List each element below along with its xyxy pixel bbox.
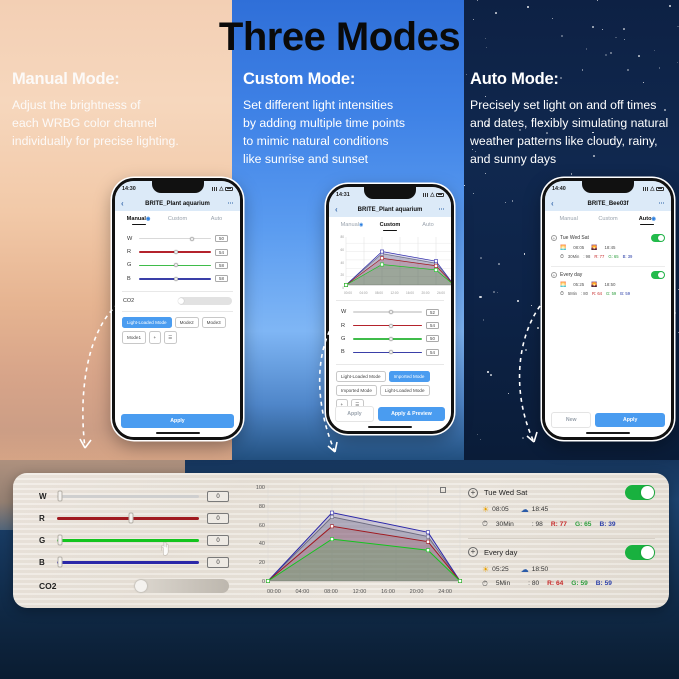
x-tick: 08:00 bbox=[375, 291, 383, 297]
panel-co2-row: CO2 bbox=[39, 579, 229, 593]
screen-content: Manual◉ Custom Auto W 50 R 54 G 58 B bbox=[115, 211, 240, 437]
clock-icon: ⏱ bbox=[482, 579, 488, 589]
footer-actions: Apply Apply & Preview bbox=[335, 406, 445, 422]
tab-custom[interactable]: Custom bbox=[158, 216, 197, 225]
more-horizontal-icon[interactable]: ⋯ bbox=[433, 206, 445, 213]
panel-schedules: + Tue Wed Sat ☀08:05 ☁18:45 ⏱ 30Min : 98… bbox=[460, 473, 669, 608]
schedule-toggle[interactable] bbox=[651, 271, 665, 279]
panel-schedule-r: R: 77 bbox=[551, 521, 567, 528]
signal-icon bbox=[643, 187, 649, 191]
panel-schedule-b: B: 59 bbox=[596, 580, 612, 587]
custom-mode-heading: Custom Mode: bbox=[243, 70, 458, 89]
slider-knob-w[interactable] bbox=[389, 310, 393, 314]
slider-label-g: G bbox=[127, 262, 135, 268]
sunset-icon: ☁ bbox=[521, 565, 529, 574]
tab-auto-label: Auto bbox=[422, 222, 434, 228]
tab-dot-icon: ◉ bbox=[146, 216, 150, 222]
schedule-b: B: 39 bbox=[623, 254, 633, 259]
panel-slider-track-w[interactable] bbox=[57, 495, 199, 497]
auto-mode-line-2: and dates, flexibly simulating natural bbox=[470, 114, 679, 132]
x-tick: 12:00 bbox=[391, 291, 399, 297]
slider-track-g[interactable] bbox=[139, 265, 211, 267]
slider-value-b[interactable]: 58 bbox=[215, 275, 228, 282]
x-tick: 08:00 bbox=[324, 589, 338, 598]
schedule-off-time: 18:45 bbox=[604, 245, 615, 250]
chart-fullscreen-icon[interactable] bbox=[440, 487, 446, 493]
slider-value-r[interactable]: 54 bbox=[426, 322, 439, 329]
wifi-icon: △ bbox=[650, 186, 654, 192]
x-tick: 00:00 bbox=[344, 291, 352, 297]
wifi-icon: △ bbox=[219, 186, 223, 192]
panel-schedule-list: + Tue Wed Sat ☀08:05 ☁18:45 ⏱ 30Min : 98… bbox=[468, 483, 655, 593]
panel-slider-value-r[interactable]: 0 bbox=[207, 513, 229, 524]
chart-x-axis: 00:00 04:00 08:00 12:00 16:00 20:00 24:0… bbox=[344, 291, 445, 297]
sunrise-icon: ☀ bbox=[482, 505, 489, 514]
clock-icon: ⏱ bbox=[482, 519, 488, 529]
new-button[interactable]: New bbox=[551, 412, 591, 428]
schedule-g: G: 65 bbox=[608, 254, 618, 259]
slider-knob-g[interactable] bbox=[389, 337, 393, 341]
sunset-icon: 🌄 bbox=[591, 282, 597, 288]
clock-icon: ⏱ bbox=[560, 291, 564, 297]
screen-content: Manual Custom Auto◉ + Tue Wed Sat 🌅 08:0… bbox=[545, 211, 671, 437]
expand-icon[interactable]: + bbox=[551, 272, 557, 278]
manual-mode-line-3: individually for precise lighting. bbox=[12, 132, 227, 150]
nav-title: BRITE_Plant aquarium bbox=[133, 201, 222, 207]
status-time: 14:31 bbox=[336, 192, 350, 198]
slider-value-b[interactable]: 54 bbox=[426, 349, 439, 356]
phone-notch bbox=[582, 181, 634, 193]
panel-slider-knob-w[interactable] bbox=[57, 491, 62, 502]
slider-value-w[interactable]: 52 bbox=[426, 309, 439, 316]
panel-schedule-toggle[interactable] bbox=[625, 485, 655, 500]
panel-schedule-w: : 80 bbox=[528, 580, 539, 587]
schedule-on-time: 08:05 bbox=[573, 245, 584, 250]
x-tick: 12:00 bbox=[353, 589, 367, 598]
slider-label-b: B bbox=[341, 349, 349, 355]
sunrise-icon: 🌅 bbox=[560, 282, 566, 288]
slider-row-r[interactable]: R 54 bbox=[335, 319, 445, 332]
chip-light-loaded-mode-2[interactable]: Light-Loaded Mode bbox=[380, 385, 430, 396]
expand-icon[interactable]: + bbox=[468, 488, 478, 498]
divider bbox=[336, 364, 444, 365]
panel-schedule-g: G: 59 bbox=[571, 580, 588, 587]
slider-row-w[interactable]: W 52 bbox=[335, 306, 445, 319]
slider-label-b: B bbox=[127, 276, 135, 282]
panel-slider-row-w[interactable]: W 0 bbox=[39, 491, 229, 502]
slider-track-r[interactable] bbox=[353, 325, 422, 327]
expand-icon[interactable]: + bbox=[551, 235, 557, 241]
divider bbox=[122, 291, 233, 292]
tab-custom[interactable]: Custom bbox=[588, 216, 627, 225]
tab-manual-label: Manual bbox=[559, 216, 577, 222]
slider-knob-b[interactable] bbox=[174, 277, 178, 281]
nav-bar: ‹ BRITE_Bee03f ⋯ bbox=[545, 196, 671, 211]
screen-content: Manual◉ Custom Auto 80 60 40 20 0 00:00 … bbox=[329, 217, 451, 431]
chip-mode2[interactable]: Mode2 bbox=[175, 317, 199, 328]
schedule-toggle[interactable] bbox=[651, 234, 665, 242]
chip-mode1[interactable]: Mode1 bbox=[122, 331, 146, 343]
schedule-days: Tue Wed Sat bbox=[560, 235, 648, 241]
apply-button[interactable]: Apply bbox=[595, 413, 665, 427]
panel-slider-track-r[interactable] bbox=[57, 517, 199, 519]
schedule-days: Every day bbox=[560, 272, 648, 278]
tab-auto[interactable]: Auto bbox=[409, 222, 447, 231]
phone-custom-mode: 14:31 △ ‹ BRITE_Plant aquarium ⋯ Manual◉… bbox=[326, 184, 454, 434]
slider-knob-g[interactable] bbox=[174, 263, 178, 267]
panel-slider-track-g[interactable] bbox=[57, 539, 199, 541]
panel-slider-track-b[interactable] bbox=[57, 561, 199, 563]
x-tick: 24:00 bbox=[438, 589, 452, 598]
slider-label-w: W bbox=[341, 309, 349, 315]
auto-mode-line-3: weather patterns like cloudy, rainy, bbox=[470, 132, 679, 150]
custom-mode-line-3: to mimic natural conditions bbox=[243, 132, 458, 150]
column-auto-mode: Auto Mode: Precisely set light on and of… bbox=[470, 70, 679, 168]
slider-knob-w[interactable] bbox=[190, 237, 194, 241]
panel-schedule-on-time: 05:25 bbox=[492, 566, 509, 573]
sunset-icon: ☁ bbox=[521, 505, 529, 514]
x-tick: 24:00 bbox=[437, 291, 445, 297]
sunrise-icon: 🌅 bbox=[560, 245, 566, 251]
panel-slider-row-r[interactable]: R 0 bbox=[39, 513, 229, 524]
y-tick: 60 bbox=[259, 523, 265, 529]
panel-schedule-days: Tue Wed Sat bbox=[484, 488, 619, 497]
schedule-item[interactable]: + Every day 🌅 05:25 🌄 18:50 ⏱ 5Min : 80 … bbox=[551, 268, 665, 301]
nav-title: BRITE_Plant aquarium bbox=[347, 207, 433, 213]
panel-sliders: W 0 R 0 G 0 B 0 CO2 bbox=[13, 473, 245, 608]
sunrise-icon: ☀ bbox=[482, 565, 489, 574]
custom-mode-line-4: like sunrise and sunset bbox=[243, 150, 458, 168]
panel-slider-row-b[interactable]: B 0 bbox=[39, 557, 229, 568]
chip-mode3[interactable]: Mode3 bbox=[202, 317, 226, 328]
manual-mode-heading: Manual Mode: bbox=[12, 70, 227, 89]
x-tick: 04:00 bbox=[296, 589, 310, 598]
panel-co2-toggle[interactable] bbox=[134, 579, 229, 593]
schedule-duration: 5Min bbox=[568, 291, 577, 296]
slider-knob-r[interactable] bbox=[174, 250, 178, 254]
panel-slider-knob-r[interactable] bbox=[128, 513, 133, 524]
x-tick: 16:00 bbox=[406, 291, 414, 297]
schedule-duration: 30Min bbox=[568, 254, 579, 259]
schedule-on-time: 05:25 bbox=[573, 282, 584, 287]
schedule-w: : 98 bbox=[583, 254, 590, 259]
co2-label: CO2 bbox=[123, 298, 178, 304]
column-manual-mode: Manual Mode: Adjust the brightness of ea… bbox=[12, 70, 227, 150]
more-horizontal-icon[interactable]: ⋯ bbox=[222, 200, 234, 207]
y-tick: 100 bbox=[256, 485, 265, 491]
chart-y-axis: 80 60 40 20 0 bbox=[335, 235, 344, 290]
back-icon[interactable]: ‹ bbox=[121, 199, 133, 208]
back-icon[interactable]: ‹ bbox=[551, 199, 563, 208]
nav-bar: ‹ BRITE_Plant aquarium ⋯ bbox=[329, 202, 451, 217]
slider-card: W 50 R 54 G 58 B 58 bbox=[121, 230, 234, 288]
back-icon[interactable]: ‹ bbox=[335, 205, 347, 214]
page-title: Three Modes bbox=[0, 15, 679, 60]
schedule-w: : 80 bbox=[581, 291, 588, 296]
slider-knob-r[interactable] bbox=[389, 324, 393, 328]
tab-auto[interactable]: Auto bbox=[197, 216, 236, 225]
tab-manual-label: Manual bbox=[127, 216, 146, 222]
schedule-r: R: 64 bbox=[592, 291, 602, 296]
mode-tabs: Manual Custom Auto◉ bbox=[545, 211, 671, 227]
clock-icon: ⏱ bbox=[560, 254, 564, 260]
tab-auto[interactable]: Auto◉ bbox=[628, 216, 667, 225]
y-tick: 0 bbox=[262, 579, 265, 585]
schedule-list: + Tue Wed Sat 🌅 08:05 🌄 18:45 ⏱ 30Min : … bbox=[545, 227, 671, 305]
home-indicator bbox=[368, 426, 412, 428]
nav-bar: ‹ BRITE_Plant aquarium ⋯ bbox=[115, 196, 240, 211]
panel-schedule-toggle[interactable] bbox=[625, 545, 655, 560]
slider-value-g[interactable]: 58 bbox=[215, 262, 228, 269]
divider bbox=[122, 311, 233, 312]
chart-plot-area bbox=[344, 235, 454, 291]
x-tick: 20:00 bbox=[422, 291, 430, 297]
custom-mode-line-2: by adding multiple time points bbox=[243, 114, 458, 132]
battery-icon bbox=[436, 193, 444, 197]
list-menu-icon[interactable]: ☰ bbox=[164, 331, 177, 343]
panel-schedule-b: B: 39 bbox=[599, 521, 615, 528]
slider-row-w[interactable]: W 50 bbox=[121, 232, 234, 245]
tab-custom-label: Custom bbox=[168, 216, 187, 222]
slider-label-r: R bbox=[341, 323, 349, 329]
schedule-curve-chart[interactable]: 100806040200 00:0004:0008:0012:0016:0020… bbox=[249, 481, 454, 599]
auto-mode-line-4: and sunny days bbox=[470, 150, 679, 168]
panel-slider-value-g[interactable]: 0 bbox=[207, 535, 229, 546]
tab-manual[interactable]: Manual◉ bbox=[333, 222, 371, 231]
panel-chart: 100806040200 00:0004:0008:0012:0016:0020… bbox=[245, 473, 460, 608]
chip-imported-mode[interactable]: Imported Mode bbox=[336, 385, 377, 396]
chip-imported-mode-selected[interactable]: Imported Mode bbox=[389, 371, 430, 382]
panel-slider-value-b[interactable]: 0 bbox=[207, 557, 229, 568]
battery-icon bbox=[225, 187, 233, 191]
slider-value-w[interactable]: 50 bbox=[215, 235, 228, 242]
panel-slider-knob-b[interactable] bbox=[57, 557, 62, 568]
panel-schedule-on-time: 08:05 bbox=[492, 506, 509, 513]
more-horizontal-icon[interactable]: ⋯ bbox=[653, 200, 665, 207]
nav-title: BRITE_Bee03f bbox=[563, 201, 653, 207]
chart-x-axis: 00:0004:0008:0012:0016:0020:0024:00 bbox=[267, 589, 452, 598]
divider bbox=[336, 300, 444, 301]
schedule-b: B: 59 bbox=[620, 291, 630, 296]
mode-chip-group: Light-Loaded Mode Mode2 Mode3 Mode1 + ☰ bbox=[115, 314, 240, 347]
y-tick: 80 bbox=[259, 504, 265, 510]
manual-mode-line-2: each WRBG color channel bbox=[12, 114, 227, 132]
slider-card: W 52 R 54 G 50 B 54 bbox=[335, 304, 445, 362]
schedule-r: R: 77 bbox=[594, 254, 604, 259]
panel-schedule-g: G: 65 bbox=[575, 521, 592, 528]
panel-schedule-w: : 98 bbox=[532, 521, 543, 528]
divider bbox=[468, 538, 655, 539]
panel-slider-label-r: R bbox=[39, 514, 49, 523]
slider-track-b[interactable] bbox=[139, 278, 211, 280]
panel-slider-row-g[interactable]: G 0 bbox=[39, 535, 229, 546]
battery-icon bbox=[656, 187, 664, 191]
slider-knob-b[interactable] bbox=[389, 350, 393, 354]
panel-slider-value-w[interactable]: 0 bbox=[207, 491, 229, 502]
slider-track-g[interactable] bbox=[353, 338, 422, 340]
panel-schedule-item[interactable]: + Tue Wed Sat ☀08:05 ☁18:45 ⏱ 30Min : 98… bbox=[468, 483, 655, 533]
panel-co2-label: CO2 bbox=[39, 581, 134, 591]
chip-light-loaded-mode[interactable]: Light-Loaded Mode bbox=[122, 317, 172, 328]
phone-auto-mode: 14:40 △ ‹ BRITE_Bee03f ⋯ Manual Custom A… bbox=[542, 178, 674, 440]
signal-icon bbox=[423, 193, 429, 197]
status-time: 14:40 bbox=[552, 186, 566, 192]
panel-slider-label-w: W bbox=[39, 492, 49, 501]
panel-schedule-days: Every day bbox=[484, 548, 619, 557]
x-tick: 16:00 bbox=[381, 589, 395, 598]
slider-row-g[interactable]: G 50 bbox=[335, 332, 445, 345]
panel-schedule-r: R: 64 bbox=[547, 580, 563, 587]
slider-track-w[interactable] bbox=[353, 311, 422, 313]
chip-light-loaded-mode[interactable]: Light-Loaded Mode bbox=[336, 371, 386, 382]
apply-button[interactable]: Apply bbox=[121, 414, 234, 428]
chart-plot-area bbox=[266, 483, 462, 587]
panel-schedule-duration: 5Min bbox=[496, 580, 510, 587]
x-tick: 04:00 bbox=[360, 291, 368, 297]
slider-label-w: W bbox=[127, 236, 135, 242]
expand-icon[interactable]: + bbox=[468, 547, 478, 557]
tab-manual[interactable]: Manual bbox=[549, 216, 588, 225]
panel-schedule-duration: 30Min bbox=[496, 521, 514, 528]
slider-value-r[interactable]: 54 bbox=[215, 249, 228, 256]
sunset-icon: 🌄 bbox=[591, 245, 597, 251]
slider-row-r[interactable]: R 54 bbox=[121, 245, 234, 258]
mode-tabs: Manual◉ Custom Auto bbox=[115, 211, 240, 227]
custom-curve-chart[interactable]: 80 60 40 20 0 00:00 04:00 08:00 12:00 16… bbox=[335, 235, 445, 297]
phone-notch bbox=[152, 181, 204, 193]
auto-mode-heading: Auto Mode: bbox=[470, 70, 679, 89]
footer-actions: Apply bbox=[121, 414, 234, 428]
slider-track-b[interactable] bbox=[353, 352, 422, 354]
schedule-item[interactable]: + Tue Wed Sat 🌅 08:05 🌄 18:45 ⏱ 30Min : … bbox=[551, 231, 665, 264]
tab-manual-label: Manual bbox=[341, 222, 359, 228]
status-time: 14:30 bbox=[122, 186, 136, 192]
tab-auto-label: Auto bbox=[211, 216, 223, 222]
tab-custom[interactable]: Custom bbox=[371, 222, 409, 231]
home-indicator bbox=[156, 432, 200, 434]
slider-row-b[interactable]: B 58 bbox=[121, 272, 234, 285]
slider-label-r: R bbox=[127, 249, 135, 255]
phone-manual-mode: 14:30 △ ‹ BRITE_Plant aquarium ⋯ Manual◉… bbox=[112, 178, 243, 440]
tab-auto-label: Auto bbox=[639, 216, 652, 222]
tab-manual[interactable]: Manual◉ bbox=[119, 216, 158, 225]
panel-slider-label-g: G bbox=[39, 536, 49, 545]
apply-preview-button[interactable]: Apply & Preview bbox=[378, 407, 445, 421]
wifi-icon: △ bbox=[430, 192, 434, 198]
y-tick: 20 bbox=[259, 560, 265, 566]
slider-row-g[interactable]: G 58 bbox=[121, 259, 234, 272]
co2-row: CO2 bbox=[115, 294, 240, 308]
divider bbox=[551, 266, 665, 267]
add-mode-icon[interactable]: + bbox=[149, 331, 161, 343]
tab-dot-icon: ◉ bbox=[359, 222, 363, 228]
home-indicator bbox=[586, 432, 630, 434]
slider-track-w[interactable] bbox=[139, 238, 211, 240]
phone-notch bbox=[364, 187, 416, 199]
slider-row-b[interactable]: B 54 bbox=[335, 346, 445, 359]
panel-slider-label-b: B bbox=[39, 558, 49, 567]
custom-mode-line-1: Set different light intensities bbox=[243, 96, 458, 114]
panel-schedule-off-time: 18:50 bbox=[532, 566, 549, 573]
x-tick: 00:00 bbox=[267, 589, 281, 598]
column-custom-mode: Custom Mode: Set different light intensi… bbox=[243, 70, 458, 168]
schedule-off-time: 18:50 bbox=[604, 282, 615, 287]
panel-slider-knob-g[interactable] bbox=[57, 535, 62, 546]
manual-mode-line-1: Adjust the brightness of bbox=[12, 96, 227, 114]
footer-actions: New Apply bbox=[551, 412, 665, 428]
auto-mode-line-1: Precisely set light on and off times bbox=[470, 96, 679, 114]
slider-track-r[interactable] bbox=[139, 251, 211, 253]
mode-tabs: Manual◉ Custom Auto bbox=[329, 217, 451, 233]
signal-icon bbox=[212, 187, 218, 191]
tab-custom-label: Custom bbox=[598, 216, 617, 222]
tab-dot-icon: ◉ bbox=[652, 216, 656, 222]
slider-label-g: G bbox=[341, 336, 349, 342]
chart-y-axis: 100806040200 bbox=[249, 485, 265, 585]
tab-custom-label: Custom bbox=[380, 222, 401, 228]
panel-schedule-item[interactable]: + Every day ☀05:25 ☁18:50 ⏱ 5Min : 80 R:… bbox=[468, 543, 655, 593]
y-tick: 40 bbox=[259, 541, 265, 547]
x-tick: 20:00 bbox=[410, 589, 424, 598]
schedule-g: G: 59 bbox=[606, 291, 616, 296]
slider-value-g[interactable]: 50 bbox=[426, 335, 439, 342]
apply-button[interactable]: Apply bbox=[335, 406, 374, 422]
detail-panel: W 0 R 0 G 0 B 0 CO2 10080604 bbox=[13, 473, 669, 608]
co2-toggle[interactable] bbox=[178, 297, 233, 305]
panel-schedule-off-time: 18:45 bbox=[532, 506, 549, 513]
